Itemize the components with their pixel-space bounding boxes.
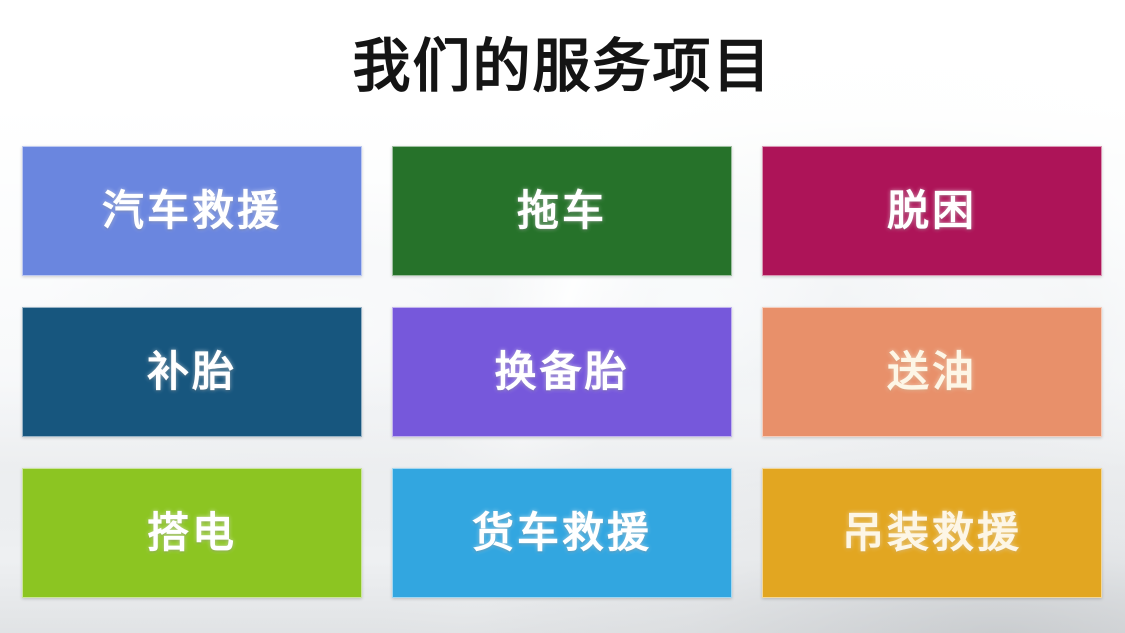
service-tile-crane-lifting[interactable]: 吊装救援 xyxy=(762,468,1102,598)
service-tile-label: 货车救援 xyxy=(472,512,652,554)
service-poster: 我们的服务项目 汽车救援 拖车 脱困 补胎 换备胎 送油 搭电 货车救援 吊装救… xyxy=(0,0,1125,633)
service-tile-label: 搭电 xyxy=(147,512,237,554)
service-tile-label: 脱困 xyxy=(887,190,977,232)
service-tile-label: 汽车救援 xyxy=(102,190,282,232)
service-tile-label: 补胎 xyxy=(147,351,237,393)
service-tile-truck-assistance[interactable]: 货车救援 xyxy=(392,468,732,598)
service-tile-tire-repair[interactable]: 补胎 xyxy=(22,307,362,437)
title-bar: 我们的服务项目 xyxy=(0,0,1125,132)
service-tile-label: 送油 xyxy=(887,351,977,393)
page-title: 我们的服务项目 xyxy=(352,37,772,95)
service-tile-grid: 汽车救援 拖车 脱困 补胎 换备胎 送油 搭电 货车救援 吊装救援 xyxy=(22,146,1102,598)
service-tile-roadside-assistance[interactable]: 汽车救援 xyxy=(22,146,362,276)
service-tile-spare-tire-change[interactable]: 换备胎 xyxy=(392,307,732,437)
service-tile-label: 拖车 xyxy=(517,190,607,232)
service-tile-label: 吊装救援 xyxy=(842,512,1022,554)
service-tile-jump-start[interactable]: 搭电 xyxy=(22,468,362,598)
service-tile-towing[interactable]: 拖车 xyxy=(392,146,732,276)
service-tile-label: 换备胎 xyxy=(494,351,629,393)
service-tile-extrication[interactable]: 脱困 xyxy=(762,146,1102,276)
service-tile-fuel-delivery[interactable]: 送油 xyxy=(762,307,1102,437)
